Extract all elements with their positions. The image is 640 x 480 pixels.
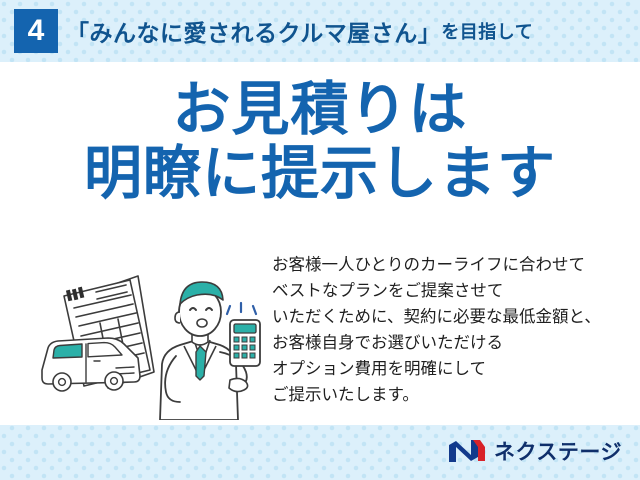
headline-line-2: 明瞭に提示します: [0, 144, 640, 204]
body-copy-line: いただくために、契約に必要な最低金額と、: [272, 304, 632, 330]
body-copy-line: オプション費用を明確にして: [272, 356, 632, 382]
content-card: お見積りは 明瞭に提示します お客様一人ひとりのカーライフに合わせて ベストなプ…: [0, 62, 640, 425]
body-copy-line: ベストなプランをご提案させて: [272, 278, 632, 304]
body-copy-line: お客様一人ひとりのカーライフに合わせて: [272, 252, 632, 278]
header-title-tail: を目指して: [441, 18, 533, 44]
header-title: 「みんなに愛されるクルマ屋さん」を目指して: [66, 0, 533, 62]
sales-illustration: [34, 260, 274, 420]
brand-logo[interactable]: ネクステージ: [447, 434, 622, 468]
body-copy: お客様一人ひとりのカーライフに合わせて ベストなプランをご提案させて いただくた…: [272, 252, 632, 408]
footer-bar: ネクステージ: [0, 425, 640, 480]
step-number-badge: 4: [14, 9, 58, 53]
header-bar: 4 「みんなに愛されるクルマ屋さん」を目指して: [0, 0, 640, 62]
brand-logo-text: ネクステージ: [494, 436, 622, 466]
calculator-icon: [230, 320, 260, 366]
page-title: お見積りは 明瞭に提示します: [0, 80, 640, 205]
promo-page: 4 「みんなに愛されるクルマ屋さん」を目指して お見積りは 明瞭に提示します お…: [0, 0, 640, 480]
body-copy-line: お客様自身でお選びいただける: [272, 330, 632, 356]
headline-line-1: お見積りは: [0, 80, 640, 140]
body-copy-line: ご提示いたします。: [272, 382, 632, 408]
nextage-n-mark-icon: [447, 438, 487, 464]
header-title-main: 「みんなに愛されるクルマ屋さん」: [66, 14, 441, 48]
